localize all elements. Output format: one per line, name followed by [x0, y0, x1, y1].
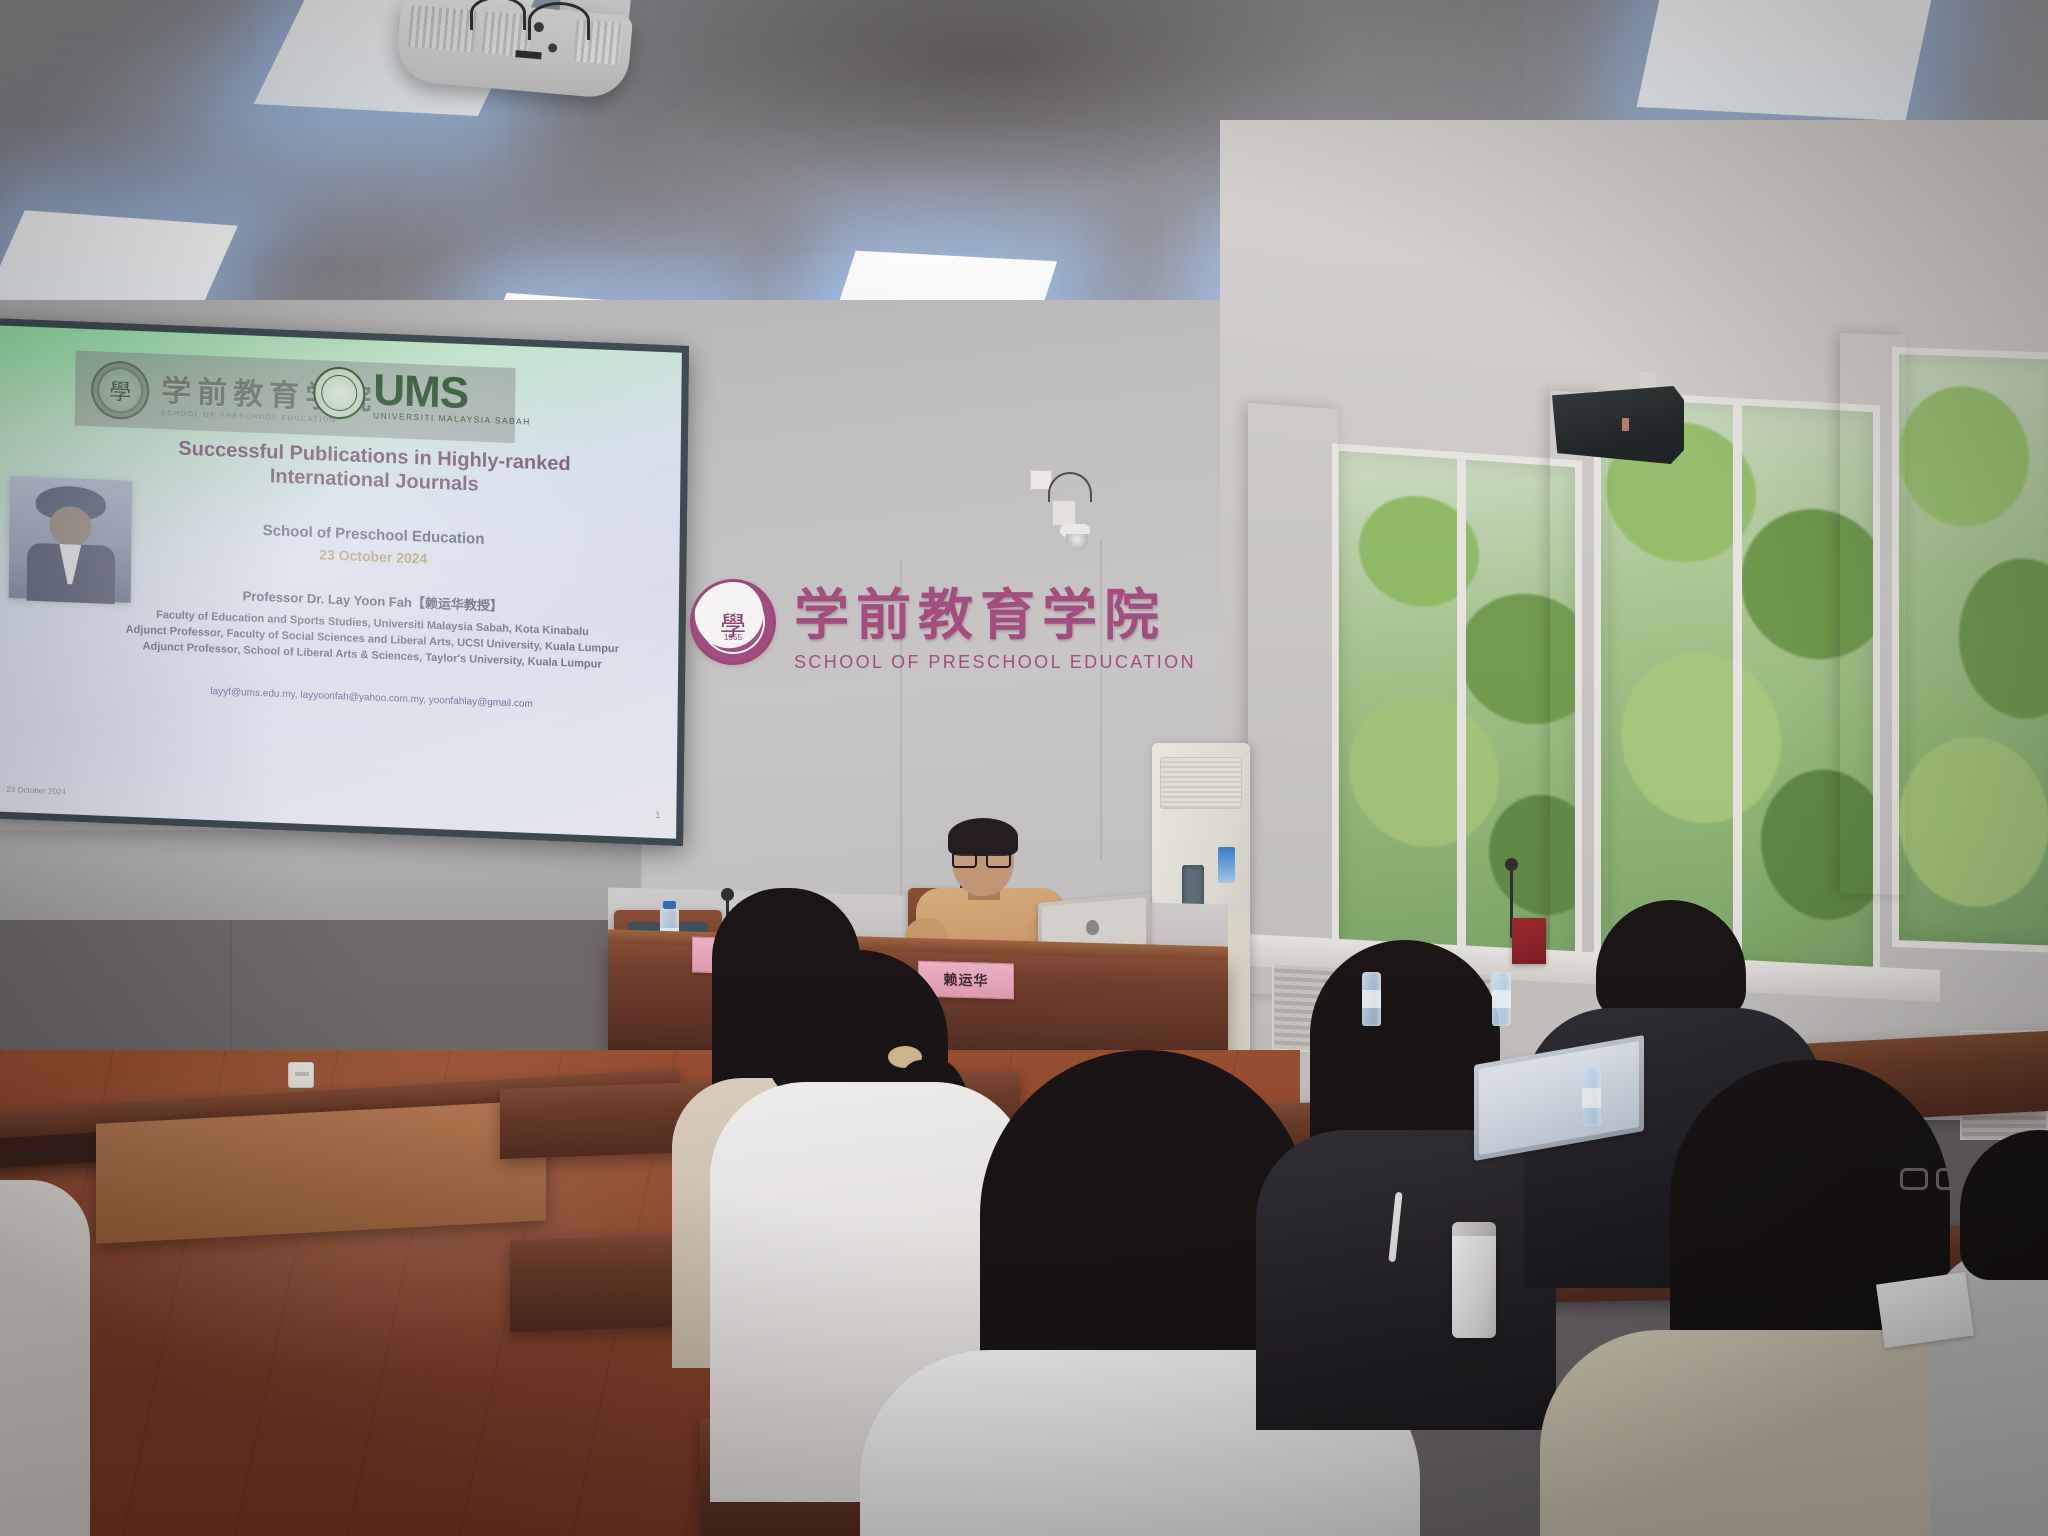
- wall-signage: 學 1955 学前教育学院 SCHOOL OF PRESCHOOL EDUCAT…: [690, 570, 1196, 673]
- foliage: [1899, 734, 2048, 909]
- power-outlet[interactable]: [288, 1062, 314, 1088]
- foliage: [1959, 556, 2048, 721]
- bottle-cap: [663, 901, 676, 909]
- projector-vent: [408, 5, 477, 53]
- foliage: [1899, 384, 2029, 529]
- red-box-on-sill: [1512, 918, 1546, 964]
- ceiling-light-panel: [1637, 0, 1932, 121]
- window-mullion: [1457, 459, 1466, 968]
- apple-logo-icon: [1086, 920, 1099, 935]
- foliage: [1621, 649, 1781, 827]
- presenter-hair: [948, 818, 1018, 856]
- tumbler-cup[interactable]: [1452, 1230, 1496, 1338]
- slide-title: Successful Publications in Highly-ranked…: [114, 434, 635, 504]
- ums-crest-icon: [313, 366, 366, 420]
- speaker-bracket: [1640, 372, 1656, 390]
- glasses-lens: [1936, 1168, 1964, 1190]
- person-hair: [1960, 1130, 2048, 1280]
- curtain: [1840, 333, 1906, 895]
- ums-logo: UMS UNIVERSITI MALAYSIA SABAH: [313, 366, 531, 427]
- slide-page-number: 1: [655, 810, 660, 820]
- window-mullion: [1733, 405, 1742, 967]
- window: [1892, 347, 2048, 953]
- glasses-icon: [952, 852, 1014, 868]
- camera-mount-plate: [1052, 500, 1076, 526]
- ums-abbr: UMS: [373, 369, 531, 417]
- wall-sign-en: SCHOOL OF PRESCHOOL EDUCATION: [794, 652, 1196, 673]
- seal-glyph: 學: [109, 373, 131, 406]
- projector-cable: [528, 2, 590, 40]
- projector-port: [548, 43, 558, 53]
- person-torso: [1256, 1130, 1556, 1430]
- tumbler-lid: [1452, 1222, 1496, 1236]
- presentation-slide: 學 学前教育学院 SCHOOL OF PRESCHOOL EDUCATION U…: [0, 325, 682, 838]
- curtain: [1248, 403, 1338, 999]
- curtain: [1550, 390, 1608, 953]
- projection-screen: 學 学前教育学院 SCHOOL OF PRESCHOOL EDUCATION U…: [0, 318, 689, 846]
- wall-sign-cn: 学前教育学院: [794, 570, 1196, 650]
- audience-desk-panel: [96, 1100, 546, 1244]
- speaker-led-icon: [1622, 418, 1629, 431]
- window: [1594, 391, 1880, 982]
- person-torso: [0, 1180, 90, 1536]
- water-bottle[interactable]: [1492, 972, 1511, 1026]
- laptop-screen: [1479, 1041, 1639, 1155]
- bottle-label: [1362, 990, 1381, 1008]
- bottle-label: [1492, 990, 1511, 1008]
- crest-year: 1955: [693, 633, 773, 642]
- laptop-lid: [1474, 1035, 1644, 1161]
- glasses-lens: [952, 852, 977, 868]
- school-crest-icon: 學 1955: [690, 579, 776, 665]
- wall-speaker-icon: [1552, 386, 1684, 464]
- school-seal-icon: 學: [91, 360, 150, 420]
- portrait-head-shape: [49, 506, 91, 548]
- ac-energy-label: [1218, 847, 1235, 883]
- presenter-portrait-photo: [9, 476, 132, 603]
- water-bottle[interactable]: [1582, 1068, 1601, 1126]
- water-bottle[interactable]: [1362, 972, 1381, 1026]
- slide-emails: layyf@ums.edu.my, layyoonfah@yahoo.com.m…: [92, 681, 652, 714]
- window: [1332, 443, 1582, 982]
- glasses-icon: [1900, 1168, 1966, 1192]
- security-camera-icon: [1052, 500, 1076, 526]
- bottle-label: [1582, 1088, 1601, 1108]
- audience-laptop[interactable]: [1474, 1050, 1644, 1160]
- slide-footer-date: 23 October 2024: [6, 785, 66, 796]
- foliage: [1349, 691, 1499, 851]
- ac-grille: [1160, 757, 1242, 809]
- paper-sheet[interactable]: [1876, 1272, 1974, 1348]
- glasses-lens: [1900, 1168, 1928, 1190]
- lecture-hall-photo: 學 学前教育学院 SCHOOL OF PRESCHOOL EDUCATION U…: [0, 0, 2048, 1536]
- glasses-lens: [986, 852, 1011, 868]
- wall-dado-band: [0, 830, 640, 920]
- projector-port: [515, 50, 542, 59]
- projector-cable: [470, 0, 526, 30]
